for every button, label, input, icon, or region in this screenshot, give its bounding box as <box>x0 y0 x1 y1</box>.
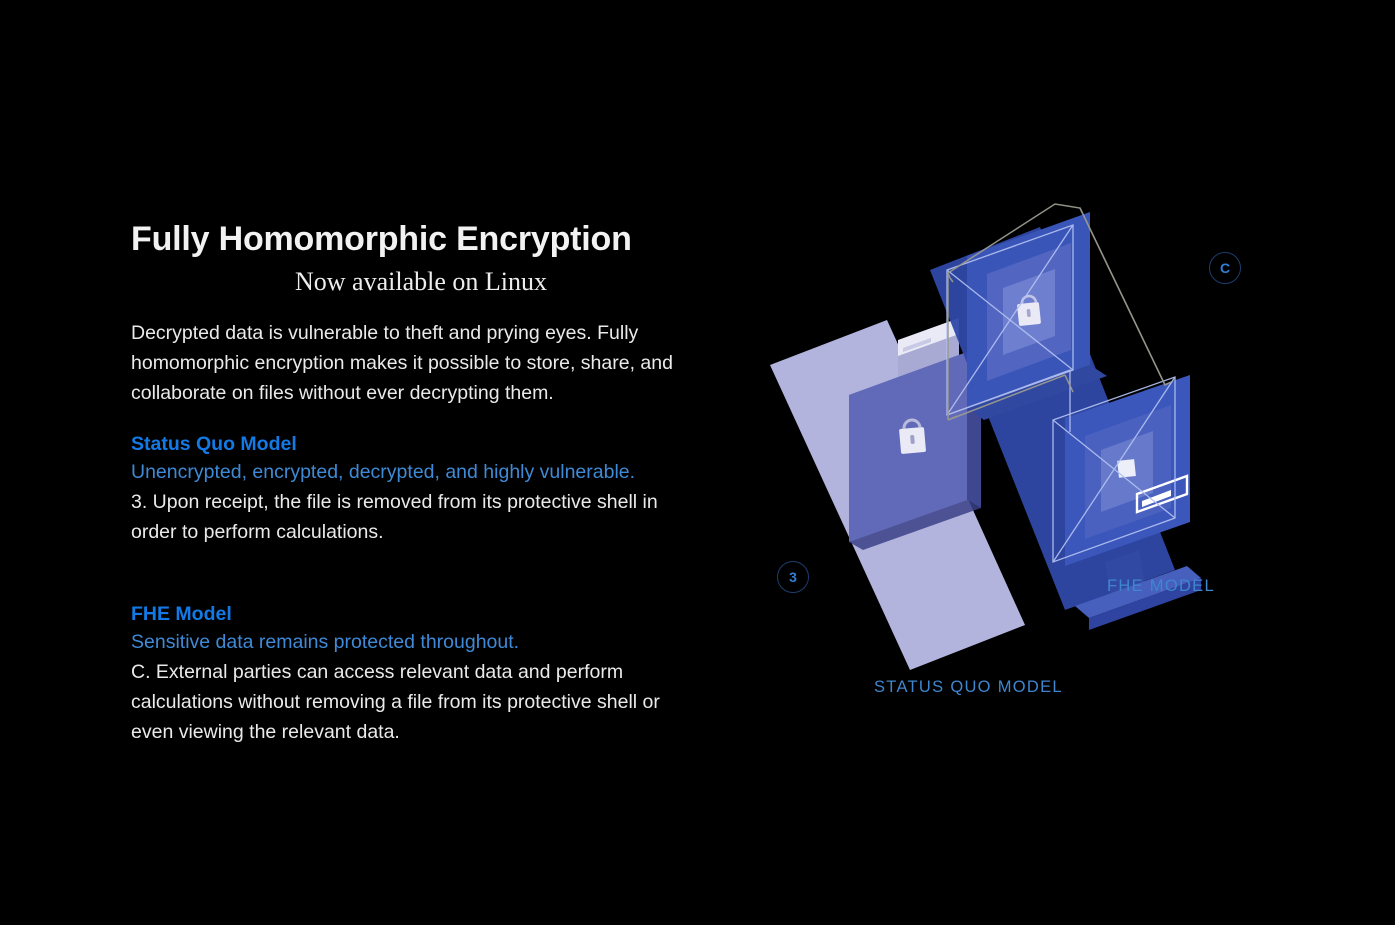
fhe-tagline: Sensitive data remains protected through… <box>131 628 731 657</box>
diagram-label-status-quo: STATUS QUO MODEL <box>874 678 1063 697</box>
diagram-label-fhe: FHE MODEL <box>1107 577 1215 596</box>
slide-root: Fully Homomorphic Encryption Now availab… <box>0 0 1395 925</box>
status-quo-body: 3. Upon receipt, the file is removed fro… <box>131 487 706 547</box>
text-column: Fully Homomorphic Encryption Now availab… <box>131 222 731 747</box>
status-quo-heading: Status Quo Model <box>131 431 731 458</box>
model-block-status-quo: Status Quo Model Unencrypted, encrypted,… <box>131 431 731 547</box>
illustration-svg <box>735 170 1275 730</box>
status-quo-tagline: Unencrypted, encrypted, decrypted, and h… <box>131 458 731 487</box>
badge-status-quo-step: 3 <box>777 561 809 593</box>
intro-paragraph: Decrypted data is vulnerable to theft an… <box>131 318 706 408</box>
badge-fhe-step: C <box>1209 252 1241 284</box>
fhe-heading: FHE Model <box>131 601 731 628</box>
page-title: Fully Homomorphic Encryption <box>131 222 731 258</box>
model-block-fhe: FHE Model Sensitive data remains protect… <box>131 601 731 747</box>
page-subtitle: Now available on Linux <box>131 268 711 297</box>
fhe-body: C. External parties can access relevant … <box>131 657 706 747</box>
isometric-illustration <box>735 170 1275 730</box>
